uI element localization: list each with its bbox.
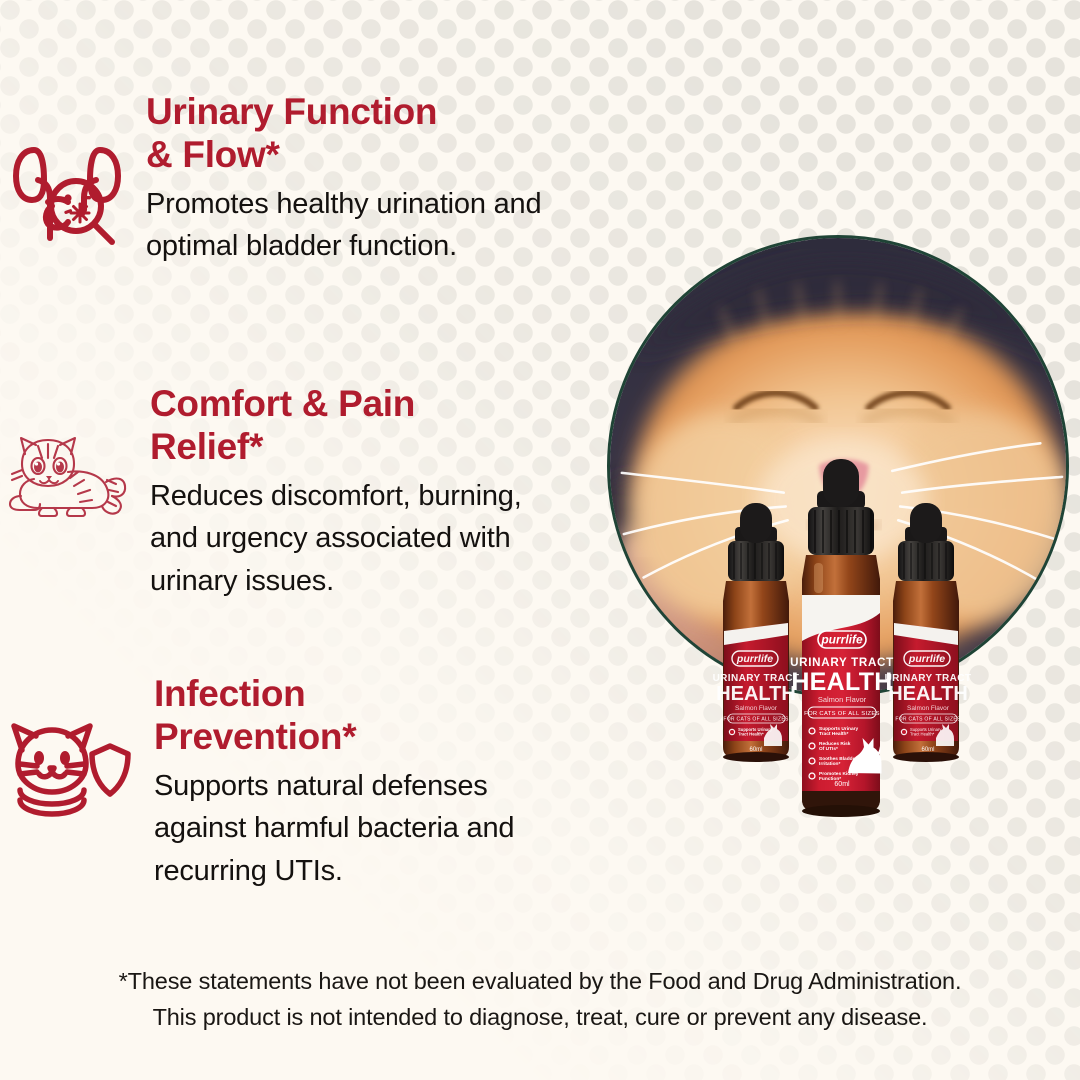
svg-text:Salmon Flavor: Salmon Flavor — [735, 705, 778, 712]
cat-head-shield-icon — [4, 672, 132, 829]
feature-item-infection-prevention: Infection Prevention* Supports natural d… — [4, 672, 514, 892]
feature-heading: Infection Prevention* — [154, 672, 514, 759]
bottle-left: purrlife URINARY TRACT HEALTH Salmon Fla… — [713, 503, 800, 762]
feature-item-comfort-pain-relief: Comfort & Pain Relief* Reduces discomfor… — [8, 382, 522, 602]
svg-text:60ml: 60ml — [834, 781, 850, 788]
feature-body: Reduces discomfort, burning, and urgency… — [150, 475, 522, 603]
feature-heading: Comfort & Pain Relief* — [150, 382, 522, 469]
kidneys-bladder-bacteria-icon — [8, 88, 126, 253]
feature-heading: Urinary Function & Flow* — [146, 90, 541, 177]
fda-disclaimer: *These statements have not been evaluate… — [0, 963, 1080, 1036]
svg-text:Salmon Flavor: Salmon Flavor — [818, 695, 867, 704]
feature-item-urinary-function: Urinary Function & Flow* Promotes health… — [8, 88, 541, 268]
svg-text:Tract Health*: Tract Health* — [738, 732, 764, 737]
svg-text:FOR CATS OF ALL SIZES: FOR CATS OF ALL SIZES — [723, 717, 789, 723]
bottle-center: purrlife URINARY TRACT HEALTH Salmon Fla… — [790, 459, 894, 817]
svg-text:Irritation*: Irritation* — [819, 761, 840, 767]
svg-text:Salmon Flavor: Salmon Flavor — [907, 705, 950, 712]
svg-text:FOR CATS OF ALL SIZES: FOR CATS OF ALL SIZES — [804, 711, 880, 717]
svg-text:HEALTH: HEALTH — [791, 668, 892, 696]
bottle-right: purrlife URINARY TRACT HEALTH Salmon Fla… — [885, 503, 972, 762]
svg-text:HEALTH: HEALTH — [716, 683, 796, 705]
svg-text:purrlife: purrlife — [736, 653, 773, 665]
feature-body: Promotes healthy urination and optimal b… — [146, 183, 541, 268]
feature-list: Urinary Function & Flow* Promotes health… — [0, 0, 660, 950]
product-bottle-group: purrlife URINARY TRACT HEALTH Salmon Fla… — [690, 455, 990, 855]
svg-text:FOR CATS OF ALL SIZES: FOR CATS OF ALL SIZES — [895, 717, 961, 723]
svg-text:purrlife: purrlife — [820, 633, 863, 647]
svg-text:Of UTIs*: Of UTIs* — [819, 746, 838, 752]
lying-tabby-kitten-icon — [8, 382, 128, 525]
svg-text:purrlife: purrlife — [908, 653, 945, 665]
svg-text:HEALTH: HEALTH — [888, 683, 968, 705]
feature-body: Supports natural defenses against harmfu… — [154, 765, 514, 893]
svg-text:Tract Health*: Tract Health* — [910, 732, 935, 737]
svg-text:Tract Health*: Tract Health* — [819, 731, 848, 737]
